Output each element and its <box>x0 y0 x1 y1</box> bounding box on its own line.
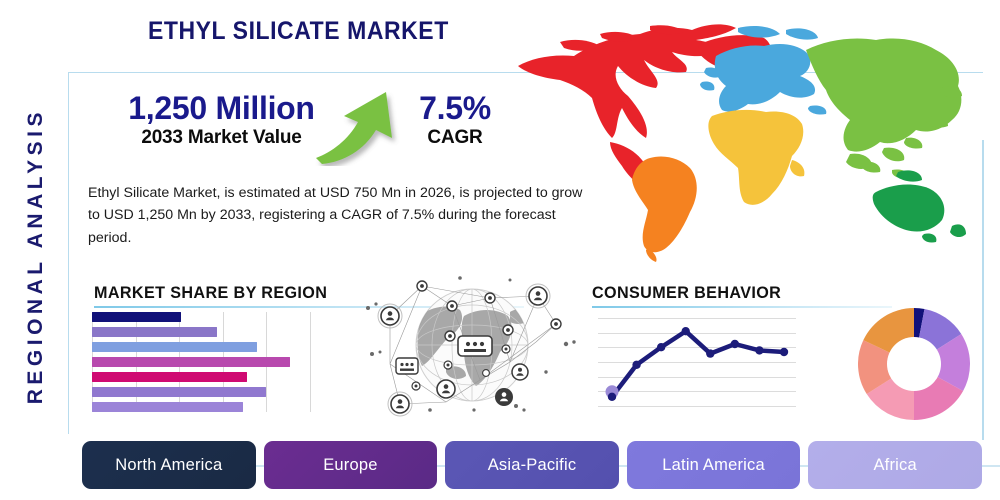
line-point-5 <box>706 349 714 357</box>
consumer-behavior-line-chart <box>598 310 796 412</box>
line-point-3 <box>657 343 665 351</box>
world-map-icon <box>500 14 980 264</box>
map-region-africa <box>708 110 804 205</box>
map-region-asia <box>806 38 962 178</box>
bar-3 <box>92 342 257 352</box>
side-label-regional-analysis: REGIONAL ANALYSIS <box>14 56 58 456</box>
map-region-south-america <box>632 156 697 262</box>
section-title-consumer-behavior: CONSUMER BEHAVIOR <box>592 283 877 303</box>
bar-7 <box>92 402 243 412</box>
infographic-root: REGIONAL ANALYSIS ETHYL SILICATE MARKET … <box>0 0 1000 500</box>
line-point-6 <box>731 340 739 348</box>
line-point-1 <box>608 393 616 401</box>
region-button-africa[interactable]: Africa <box>808 441 982 489</box>
region-connector <box>437 465 445 467</box>
side-label-text: REGIONAL ANALYSIS <box>24 108 48 404</box>
region-button-europe[interactable]: Europe <box>264 441 438 489</box>
map-region-oceania <box>873 170 966 242</box>
region-connector <box>800 465 808 467</box>
region-connector <box>619 465 627 467</box>
region-button-label: Asia-Pacific <box>488 456 577 475</box>
bar-6 <box>92 387 266 397</box>
line-point-7 <box>755 346 763 354</box>
bar-row <box>92 372 314 382</box>
line-point-8 <box>780 348 788 356</box>
bar-row <box>92 312 314 322</box>
network-globe-icon <box>360 268 580 423</box>
donut-chart <box>858 308 970 420</box>
market-share-bar-chart <box>92 312 314 412</box>
region-connector-tail <box>982 465 1000 467</box>
bar-2 <box>92 327 217 337</box>
bar-row <box>92 342 314 352</box>
card-frame-right-border <box>982 140 984 440</box>
market-value-caption: 2033 Market Value <box>114 127 329 149</box>
page-title: ETHYL SILICATE MARKET <box>148 17 449 46</box>
cagr-caption: CAGR <box>400 127 510 149</box>
line-chart-series <box>598 310 796 412</box>
bar-4 <box>92 357 290 367</box>
region-button-latin-america[interactable]: Latin America <box>627 441 801 489</box>
market-value-stat: 1,250 Million 2033 Market Value <box>114 92 329 148</box>
line-point-2 <box>632 361 640 369</box>
bar-row <box>92 327 314 337</box>
cagr-number: 7.5% <box>400 92 510 126</box>
section-rule-consumer-behavior <box>592 306 892 308</box>
region-button-asia-pacific[interactable]: Asia-Pacific <box>445 441 619 489</box>
bar-row <box>92 402 314 412</box>
region-connector <box>256 465 264 467</box>
bar-row <box>92 387 314 397</box>
growth-arrow-icon <box>314 88 414 166</box>
region-button-label: Africa <box>873 456 916 475</box>
bar-1 <box>92 312 181 322</box>
bar-chart-bars <box>92 312 314 412</box>
market-value-number: 1,250 Million <box>114 92 329 126</box>
region-button-label: North America <box>115 456 222 475</box>
line-point-4 <box>682 327 690 335</box>
bar-row <box>92 357 314 367</box>
stats-row: 1,250 Million 2033 Market Value 7.5% CAG… <box>82 92 502 167</box>
region-button-label: Latin America <box>662 456 765 475</box>
section-heading-consumer-behavior: CONSUMER BEHAVIOR <box>592 283 892 308</box>
cagr-stat: 7.5% CAGR <box>400 92 510 148</box>
region-button-label: Europe <box>323 456 377 475</box>
region-buttons: North AmericaEuropeAsia-PacificLatin Ame… <box>82 441 982 489</box>
region-button-north-america[interactable]: North America <box>82 441 256 489</box>
bar-5 <box>92 372 247 382</box>
